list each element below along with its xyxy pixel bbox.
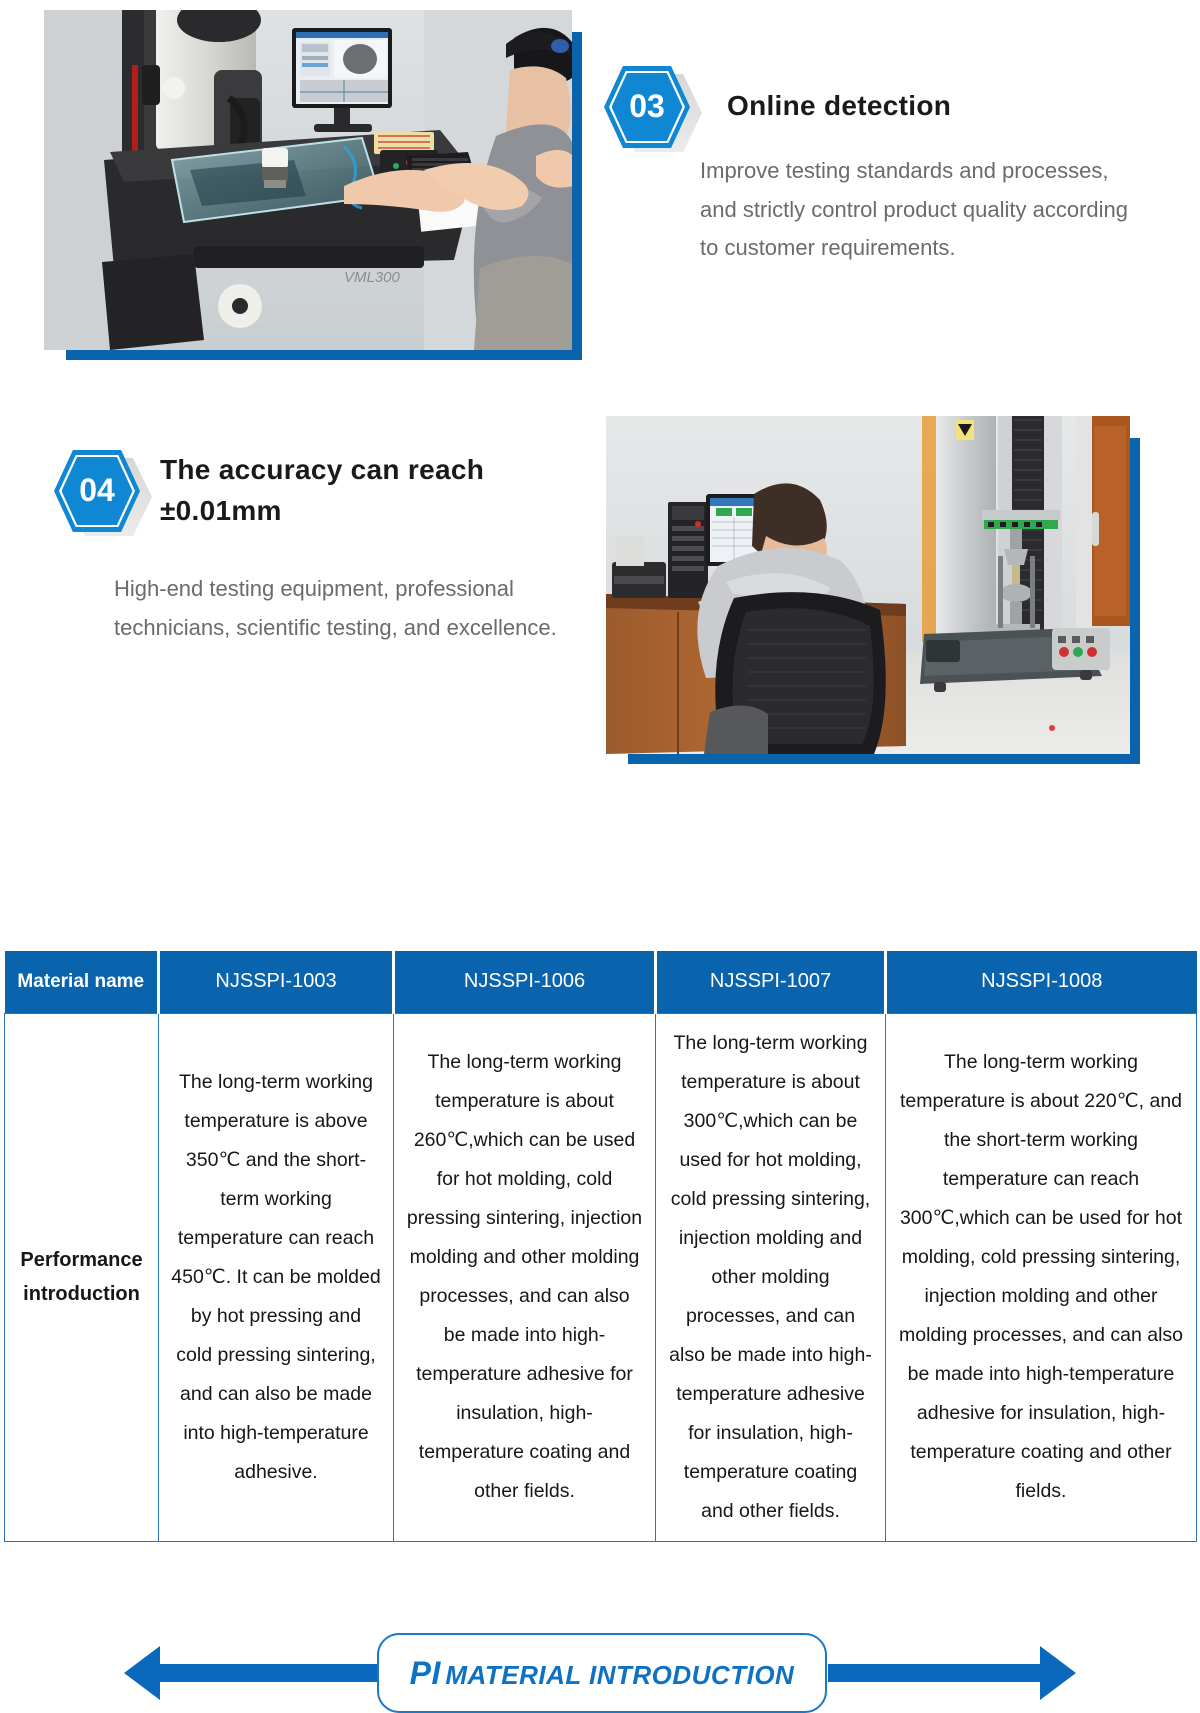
accuracy-photo-frame <box>606 416 1130 754</box>
table-body: Performance introduction The long-term w… <box>5 1013 1197 1541</box>
accuracy-photo <box>606 416 1130 754</box>
column-header-njsspi-1007: NJSSPI-1007 <box>656 951 886 1013</box>
feature-title-04: The accuracy can reach ±0.01mm <box>160 450 560 531</box>
feature-title-03: Online detection <box>727 86 1147 127</box>
svg-text:VML300: VML300 <box>344 269 401 286</box>
cell-njsspi-1007-performance: The long-term working temperature is abo… <box>656 1013 886 1541</box>
section-title: PI MATERIAL INTRODUCTION <box>410 1655 795 1692</box>
optical-measuring-machine-image: VML300 <box>44 10 572 350</box>
arrow-right-icon <box>1040 1646 1076 1700</box>
testing-machine-lab-image <box>606 416 1130 754</box>
cell-njsspi-1006-performance: The long-term working temperature is abo… <box>394 1013 656 1541</box>
arrow-left-icon <box>124 1646 160 1700</box>
column-header-material-name: Material name <box>5 951 159 1013</box>
table-row: Performance introduction The long-term w… <box>5 1013 1197 1541</box>
row-label-performance-introduction: Performance introduction <box>5 1013 159 1541</box>
feature-body-03: Improve testing standards and processes,… <box>700 152 1130 268</box>
badge-number-04: 04 <box>54 450 140 532</box>
feature-badge-03: 03 <box>604 66 690 148</box>
arrow-right-bar <box>828 1664 1044 1682</box>
column-header-njsspi-1003: NJSSPI-1003 <box>159 951 394 1013</box>
section-title-rest: MATERIAL INTRODUCTION <box>445 1660 794 1690</box>
section-banner: PI MATERIAL INTRODUCTION <box>0 808 1200 918</box>
online-detection-photo-frame: VML300 <box>44 10 572 350</box>
table-header-row: Material name NJSSPI-1003 NJSSPI-1006 NJ… <box>5 951 1197 1013</box>
online-detection-photo: VML300 <box>44 10 572 350</box>
feature-badge-04: 04 <box>54 450 140 532</box>
badge-number-03: 03 <box>604 66 690 148</box>
cell-njsspi-1008-performance: The long-term working temperature is abo… <box>886 1013 1197 1541</box>
feature-body-04: High-end testing equipment, professional… <box>114 570 594 647</box>
column-header-njsspi-1008: NJSSPI-1008 <box>886 951 1197 1013</box>
cell-njsspi-1003-performance: The long-term working temperature is abo… <box>159 1013 394 1541</box>
pi-material-table: Material name NJSSPI-1003 NJSSPI-1006 NJ… <box>4 951 1196 1542</box>
column-header-njsspi-1006: NJSSPI-1006 <box>394 951 656 1013</box>
section-title-lead: PI <box>410 1655 441 1691</box>
section-title-pill: PI MATERIAL INTRODUCTION <box>377 1633 827 1713</box>
material-comparison-table: Material name NJSSPI-1003 NJSSPI-1006 NJ… <box>4 951 1197 1542</box>
table-header: Material name NJSSPI-1003 NJSSPI-1006 NJ… <box>5 951 1197 1013</box>
